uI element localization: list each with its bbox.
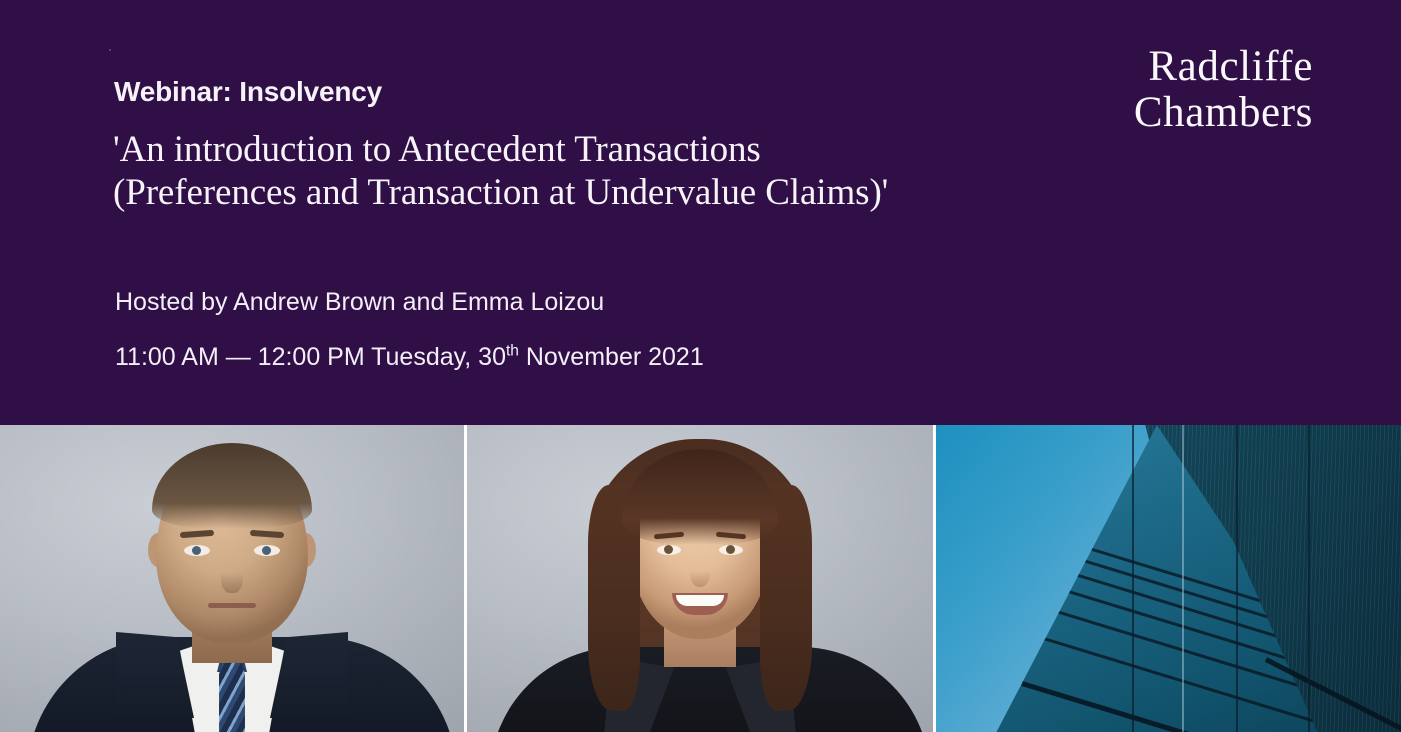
mouth: [208, 603, 256, 608]
logo-line-2: Chambers: [1134, 90, 1313, 136]
datetime-tail: November 2021: [519, 343, 704, 371]
page-title-line-1: 'An introduction to Antecedent Transacti…: [113, 128, 1113, 171]
skyscraper-photo: [936, 425, 1401, 732]
header-band: Webinar: Insolvency 'An introduction to …: [0, 0, 1401, 425]
eye-right: [254, 545, 280, 556]
webinar-banner: Webinar: Insolvency 'An introduction to …: [0, 0, 1401, 732]
radcliffe-chambers-logo: Radcliffe Chambers: [1134, 44, 1313, 136]
logo-line-1: Radcliffe: [1134, 44, 1313, 90]
day-ordinal-suffix: th: [506, 343, 519, 360]
portrait-emma-loizou: [467, 425, 933, 732]
background-speck: [109, 49, 111, 51]
image-strip: [0, 425, 1401, 732]
datetime-label: 11:00 AM — 12:00 PM Tuesday, 30th Novemb…: [115, 343, 704, 372]
datetime-main: 11:00 AM — 12:00 PM Tuesday, 30: [115, 343, 506, 371]
hosts-label: Hosted by Andrew Brown and Emma Loizou: [115, 288, 604, 317]
facade-vertical-seam: [1308, 425, 1310, 732]
eye-left: [184, 545, 210, 556]
teeth: [676, 595, 724, 606]
eye-right: [719, 545, 743, 555]
page-title: 'An introduction to Antecedent Transacti…: [113, 128, 1113, 214]
nose: [690, 557, 710, 587]
nose: [221, 559, 243, 593]
webinar-category-label: Webinar: Insolvency: [114, 76, 382, 108]
tower-corner-highlight: [1182, 425, 1184, 732]
facade-vertical-seam: [1132, 425, 1134, 732]
portrait-andrew-brown: [0, 425, 464, 732]
facade-vertical-seam: [1236, 425, 1238, 732]
eye-left: [657, 545, 681, 555]
page-title-line-2: (Preferences and Transaction at Underval…: [113, 171, 1113, 214]
